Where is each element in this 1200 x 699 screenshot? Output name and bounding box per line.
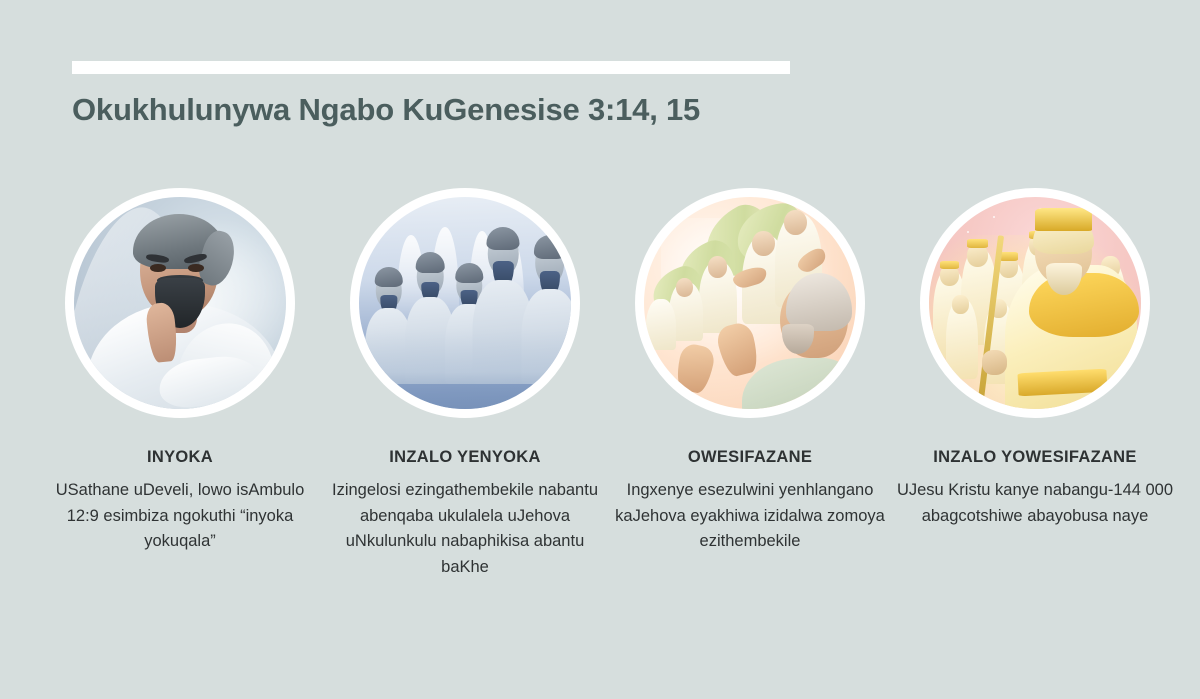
caption-body-inzalo-yowesifazane: UJesu Kristu kanye nabangu-144 000 abagc… <box>895 478 1175 529</box>
jesus-christ-king-with-anointed-illustration <box>929 197 1141 409</box>
circle-frame-inyoka <box>65 188 295 418</box>
caption-body-inyoka: USathane uDeveli, lowo isAmbulo 12:9 esi… <box>45 478 315 555</box>
title-rule <box>72 61 790 74</box>
circle-frame-inzalo-yowesifazane <box>920 188 1150 418</box>
angel-body-shape-5 <box>646 299 676 350</box>
king-crown-shape <box>1035 208 1092 231</box>
angel-head-shape-4 <box>676 278 693 297</box>
king-hand-shape <box>982 350 1007 375</box>
caption-heading-inzalo-yenyoka: INZALO YENYOKA <box>389 448 541 467</box>
infographic-page: { "header": { "rule": "decorative-white-… <box>0 0 1200 699</box>
anointed-crown-shape-1 <box>940 261 959 269</box>
anointed-head-shape-5 <box>952 295 969 314</box>
circle-frame-owesifazane <box>635 188 865 418</box>
column-inyoka: INYOKA USathane uDeveli, lowo isAmbulo 1… <box>65 188 295 580</box>
caption-body-inzalo-yenyoka: Izingelosi ezingathembekile nabantu aben… <box>330 478 600 580</box>
king-sash-shape <box>1018 369 1108 397</box>
heavenly-angels-host-illustration <box>644 197 856 409</box>
page-title: Okukhulunywa Ngabo KuGenesise 3:14, 15 <box>72 92 700 128</box>
figure-hair-shape <box>416 252 445 273</box>
star-shape-4 <box>967 231 969 233</box>
columns-container: INYOKA USathane uDeveli, lowo isAmbulo 1… <box>0 188 1200 580</box>
circle-frame-inzalo-yenyoka <box>350 188 580 418</box>
anointed-crown-shape-3 <box>999 252 1018 260</box>
caption-heading-inzalo-yowesifazane: INZALO YOWESIFAZANE <box>895 448 1175 467</box>
figure-hair-shape <box>487 227 520 251</box>
caption-heading-owesifazane: OWESIFAZANE <box>688 448 812 467</box>
star-shape-1 <box>993 216 995 218</box>
column-inzalo-yenyoka: INZALO YENYOKA Izingelosi ezingathembeki… <box>350 188 580 580</box>
unfaithful-angels-and-people-illustration <box>359 197 571 409</box>
angel-head-shape-3 <box>708 256 727 277</box>
figure-hair-shape <box>374 267 402 287</box>
anointed-crown-shape-2 <box>967 239 988 247</box>
king-cape-shape <box>1029 273 1139 337</box>
figure-hair-shape <box>534 235 566 259</box>
satan-angel-scheming-illustration <box>74 197 286 409</box>
caption-heading-inyoka: INYOKA <box>147 448 213 467</box>
mist-overlay-shape <box>359 328 571 409</box>
caption-body-owesifazane: Ingxenye esezulwini yenhlangano kaJehova… <box>615 478 885 555</box>
column-owesifazane: OWESIFAZANE Ingxenye esezulwini yenhlang… <box>635 188 865 580</box>
man-hair-shape <box>786 273 852 330</box>
column-inzalo-yowesifazane: INZALO YOWESIFAZANE UJesu Kristu kanye n… <box>920 188 1150 580</box>
angel-head-shape-2 <box>784 210 807 235</box>
